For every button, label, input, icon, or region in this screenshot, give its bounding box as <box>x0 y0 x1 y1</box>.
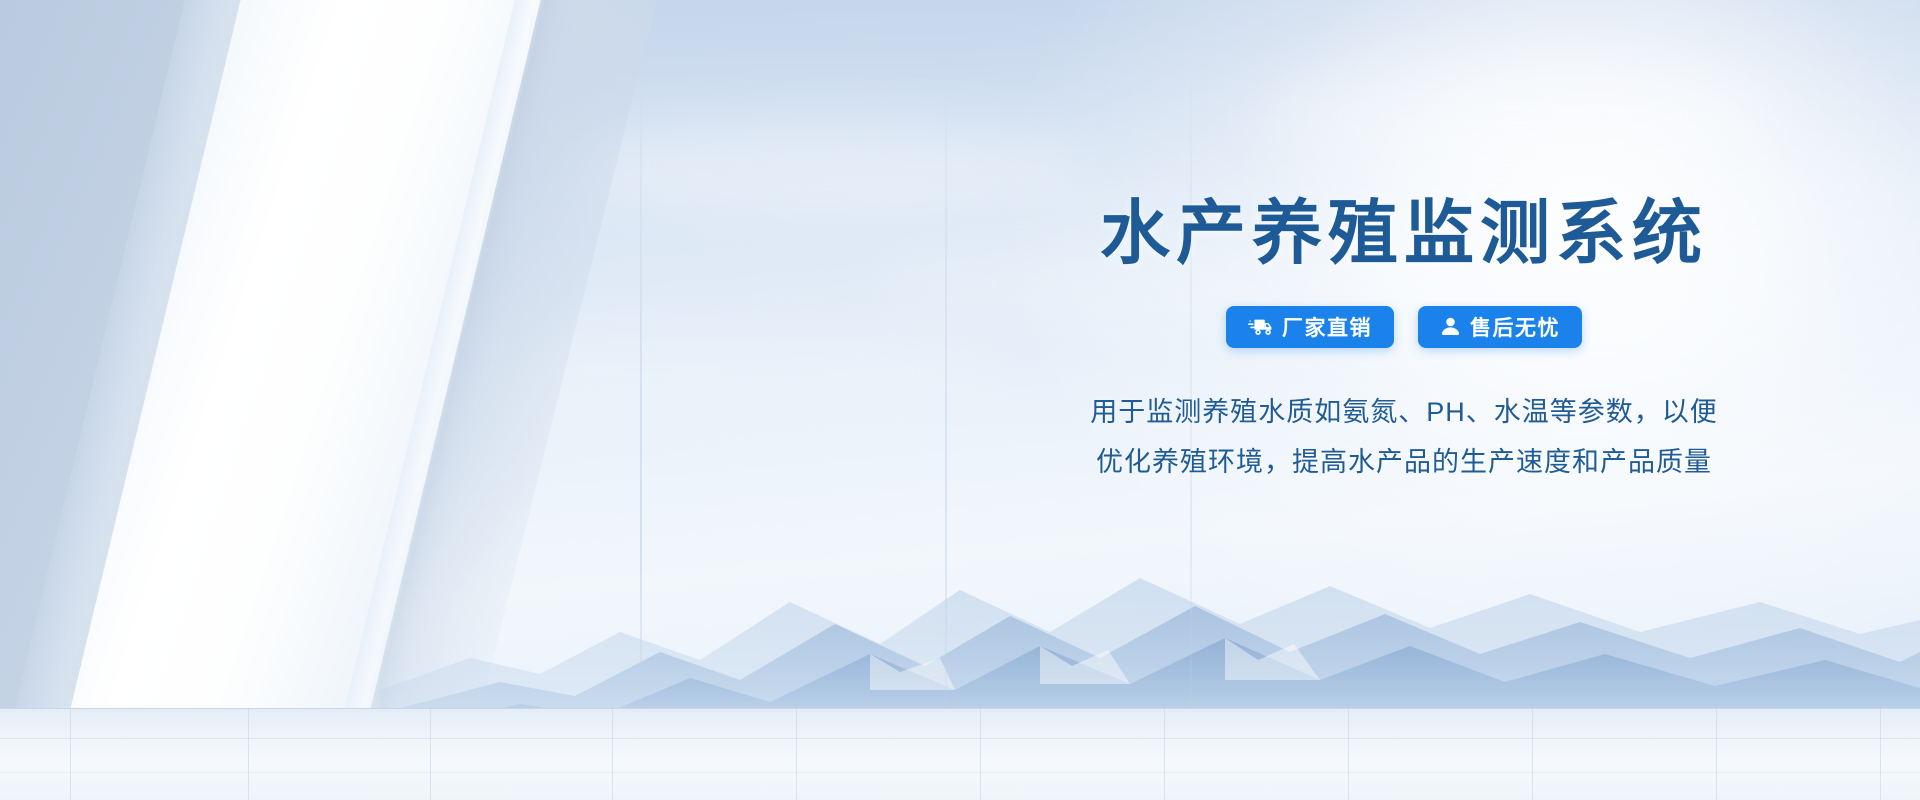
architectural-bevel <box>0 0 285 800</box>
mountain-range-illustration <box>0 482 1920 742</box>
cloud-wisp-icon <box>1250 60 1770 170</box>
product-hero-banner: 水产养殖监测系统 <box>0 0 1920 800</box>
foreground-floor <box>0 708 1920 800</box>
floor-horizon-line <box>0 708 1920 709</box>
hero-description-line-1: 用于监测养殖水质如氨氮、PH、水温等参数，以便 <box>984 388 1824 438</box>
hero-description-line-2: 优化养殖环境，提高水产品的生产速度和产品质量 <box>984 438 1824 488</box>
badge-factory-direct[interactable]: 厂家直销 <box>1226 306 1394 348</box>
architectural-white-slab <box>70 0 560 710</box>
truck-icon <box>1248 317 1273 336</box>
badge-after-sales-label: 售后无忧 <box>1470 312 1560 342</box>
cloud-wisp-icon <box>300 330 1000 410</box>
badge-row: 厂家直销 售后无忧 <box>984 306 1824 348</box>
hero-content: 水产养殖监测系统 <box>984 196 1824 487</box>
glass-pane-seam <box>945 0 947 760</box>
floor-tile-grid <box>0 708 1920 800</box>
architectural-slab-edge <box>342 0 564 720</box>
glass-pane-seam <box>640 0 642 760</box>
page-title: 水产养殖监测系统 <box>984 196 1824 272</box>
user-headset-icon <box>1440 316 1461 337</box>
hero-description: 用于监测养殖水质如氨氮、PH、水温等参数，以便 优化养殖环境，提高水产品的生产速… <box>984 388 1824 488</box>
badge-factory-direct-label: 厂家直销 <box>1282 312 1372 342</box>
badge-after-sales[interactable]: 售后无忧 <box>1418 306 1582 348</box>
architectural-shadow-wedge <box>0 0 672 800</box>
